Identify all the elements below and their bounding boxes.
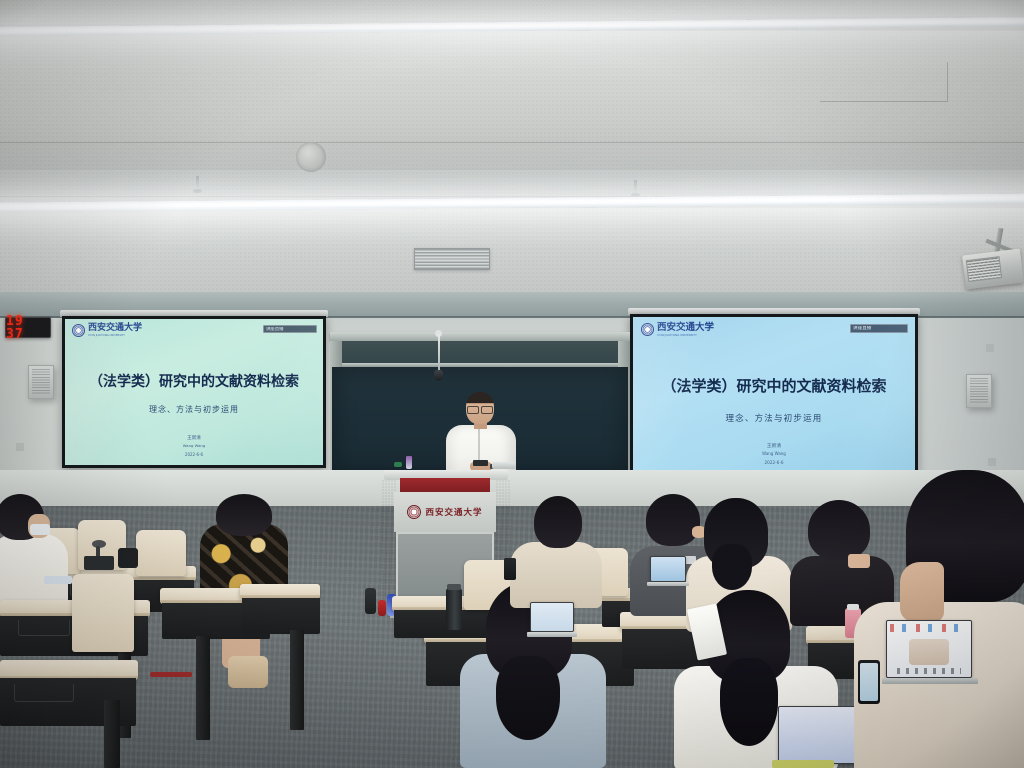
- student-6-ponytail: [712, 544, 752, 590]
- chair-accent-left: [150, 672, 192, 677]
- marker-pen: [394, 462, 402, 467]
- ceiling-speaker-icon: [296, 142, 326, 172]
- tablet-note-content: [909, 639, 949, 665]
- desk-leg-4: [104, 700, 120, 768]
- left-logo-text: 西安交通大学: [88, 324, 142, 333]
- right-slide-subtitle: 理念、方法与初步运用: [633, 412, 915, 424]
- lectern-accent-band: [400, 478, 490, 493]
- wall-sensor-right: [986, 344, 994, 352]
- notebook-on-desk: [44, 576, 72, 584]
- laptop-right-1-screen: [650, 556, 686, 582]
- left-slide: 西安交通大学 XI'AN JIAOTONG UNIVERSITY 讲座直播 （法…: [65, 319, 323, 465]
- left-slide-badge: 讲座直播: [263, 325, 317, 333]
- student-front-left-white-shirt: [0, 494, 80, 614]
- left-slide-presenter: 王新清: [65, 435, 323, 442]
- left-slide-title: （法学类）研究中的文献资料检索: [65, 371, 323, 391]
- student-4-hair: [534, 496, 582, 548]
- right-badge-text: 讲座直播: [853, 326, 905, 331]
- desk-cable-tray-2: [18, 620, 70, 636]
- right-slide-presenter: 王新清: [633, 443, 915, 450]
- tablet-keyboard-base: [882, 678, 978, 684]
- desk-row-front-left: [0, 660, 138, 680]
- lectern-face: 西安交通大学: [394, 492, 496, 532]
- ceiling-seam-1: [0, 142, 1024, 143]
- student-right-foreground: [854, 470, 1024, 768]
- student-beige-sweater: [510, 496, 606, 608]
- right-slide-title: （法学类）研究中的文献资料检索: [633, 375, 915, 396]
- ceiling: [0, 0, 1024, 300]
- chalkboard-top-rail: [330, 332, 630, 341]
- desk-leg-2: [196, 636, 210, 740]
- left-badge-text: 讲座直播: [266, 327, 314, 331]
- clock-time: 19 37: [6, 315, 50, 341]
- presenter-glasses-icon: [466, 406, 494, 412]
- left-slide-logo: 西安交通大学 XI'AN JIAOTONG UNIVERSITY: [72, 324, 142, 337]
- chalkboard-upper-panel: [332, 341, 628, 364]
- phone-right-screen: [860, 663, 878, 701]
- podium-device: [492, 462, 516, 469]
- right-slide-date: 2022-6-6: [633, 460, 915, 467]
- chair-mid-left: [72, 574, 134, 652]
- laptop-right-1-base: [647, 582, 689, 586]
- desk-cable-tray-3: [14, 684, 74, 702]
- university-emblem-icon: [72, 324, 85, 337]
- left-slide-presenter-pinyin: Wang Wang: [65, 443, 323, 449]
- tablet-toolbar-icons: [890, 624, 968, 632]
- laptop-center-base: [527, 632, 577, 637]
- desk-microphone-base: [84, 556, 114, 570]
- right-slide-badge: 讲座直播: [850, 324, 908, 333]
- hanging-microphone-icon: [434, 370, 443, 381]
- desk-leg-3: [290, 630, 304, 730]
- bottle-floor-red: [378, 600, 386, 616]
- lecture-hall-photo: 19 37 西安交通大学 XI'AN JIAOTONG UNIVERSITY 讲…: [0, 0, 1024, 768]
- left-projection-screen: 西安交通大学 XI'AN JIAOTONG UNIVERSITY 讲座直播 （法…: [62, 316, 326, 468]
- chair-rear-left-3: [136, 530, 186, 576]
- ceiling-air-vent: [414, 248, 490, 270]
- phone-on-desk[interactable]: [504, 558, 516, 580]
- right-logo-text: 西安交通大学: [657, 323, 714, 333]
- water-bottle-podium: [406, 456, 412, 469]
- desk-row-mid-left-3: [240, 584, 320, 599]
- phone-right[interactable]: [858, 660, 880, 704]
- highlighter-pen: [772, 760, 834, 768]
- university-emblem-icon: [641, 323, 654, 336]
- laptop-right-2-screen: [778, 706, 864, 764]
- right-slide-presenter-pinyin: Wang Wang: [633, 451, 915, 457]
- ceiling-panel-outline: [820, 62, 948, 102]
- student-2-boot: [228, 656, 268, 688]
- microphone-cable: [438, 334, 440, 372]
- laptop-center-screen: [530, 602, 574, 632]
- presenter-phone: [473, 460, 488, 466]
- thermos-floor-black: [365, 588, 376, 614]
- left-slide-subtitle: 理念、方法与初步运用: [65, 404, 323, 415]
- sprinkler-head-left-icon: [196, 176, 199, 190]
- student-1-mask-icon: [30, 524, 50, 535]
- left-logo-subtext: XI'AN JIAOTONG UNIVERSITY: [88, 335, 142, 338]
- student-2-hair: [216, 494, 272, 536]
- wall-outlet-right: [988, 458, 996, 466]
- right-slide-logo: 西安交通大学 XI'AN JIAOTONG UNIVERSITY: [641, 323, 714, 337]
- tablet-bottom-toolbar: [897, 668, 961, 674]
- right-slide: 西安交通大学 XI'AN JIAOTONG UNIVERSITY 讲座直播 （法…: [633, 317, 915, 475]
- student-9-ear-neck: [900, 562, 944, 622]
- projector-vent-icon: [966, 256, 1002, 282]
- right-logo-subtext: XI'AN JIAOTONG UNIVERSITY: [657, 334, 714, 337]
- student-8-ponytail: [720, 658, 778, 746]
- lectern-logo-text: 西安交通大学: [425, 506, 482, 518]
- digital-wall-clock: 19 37: [5, 317, 51, 338]
- wall-speaker-left: [28, 365, 54, 399]
- left-slide-date: 2022-6-6: [65, 452, 323, 458]
- wall-speaker-right: [966, 374, 992, 408]
- student-4-sweater: [510, 542, 602, 608]
- ceiling-projector: [962, 249, 1024, 290]
- desk-front-mid-left-3: [242, 598, 320, 634]
- lectern-emblem-icon: [407, 505, 421, 519]
- right-projection-screen: 西安交通大学 XI'AN JIAOTONG UNIVERSITY 讲座直播 （法…: [630, 314, 918, 478]
- sprinkler-head-right-icon: [634, 180, 637, 194]
- tablet-screen: [886, 620, 972, 678]
- student-3-ponytail: [496, 656, 560, 740]
- wall-outlet-left: [16, 443, 24, 451]
- bag-on-desk: [118, 548, 138, 568]
